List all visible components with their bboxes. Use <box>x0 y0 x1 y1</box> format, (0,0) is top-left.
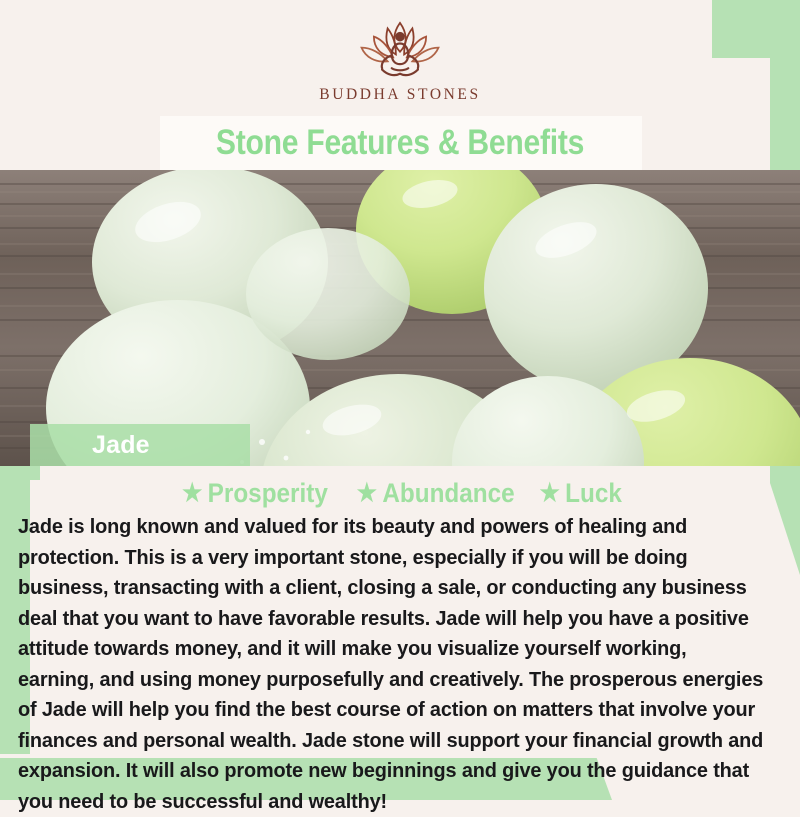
stone-photo <box>0 170 800 466</box>
page-title: Stone Features & Benefits <box>56 116 744 170</box>
brand-logo: BUDDHA STONES <box>0 0 800 120</box>
benefit-item-luck: ★ Luck <box>540 478 622 509</box>
stone-name-banner: Jade <box>30 424 250 466</box>
stone-name-label: Jade <box>30 431 150 460</box>
star-icon: ★ <box>540 481 560 506</box>
star-icon: ★ <box>182 481 202 506</box>
stone-description: Jade is long known and valued for its be… <box>18 512 765 817</box>
benefit-label: Abundance <box>382 478 514 509</box>
benefit-item-abundance: ★ Abundance <box>356 478 514 509</box>
benefits-row: ★ Prosperity ★ Abundance ★ Luck <box>0 478 800 509</box>
benefit-label: Luck <box>565 478 622 509</box>
brand-wordmark: BUDDHA STONES <box>319 86 480 104</box>
lotus-meditation-figure-icon <box>344 16 456 82</box>
star-icon: ★ <box>356 481 376 506</box>
benefit-label: Prosperity <box>207 478 327 509</box>
stone-photo-illustration <box>0 170 800 466</box>
benefit-item-prosperity: ★ Prosperity <box>182 478 328 509</box>
